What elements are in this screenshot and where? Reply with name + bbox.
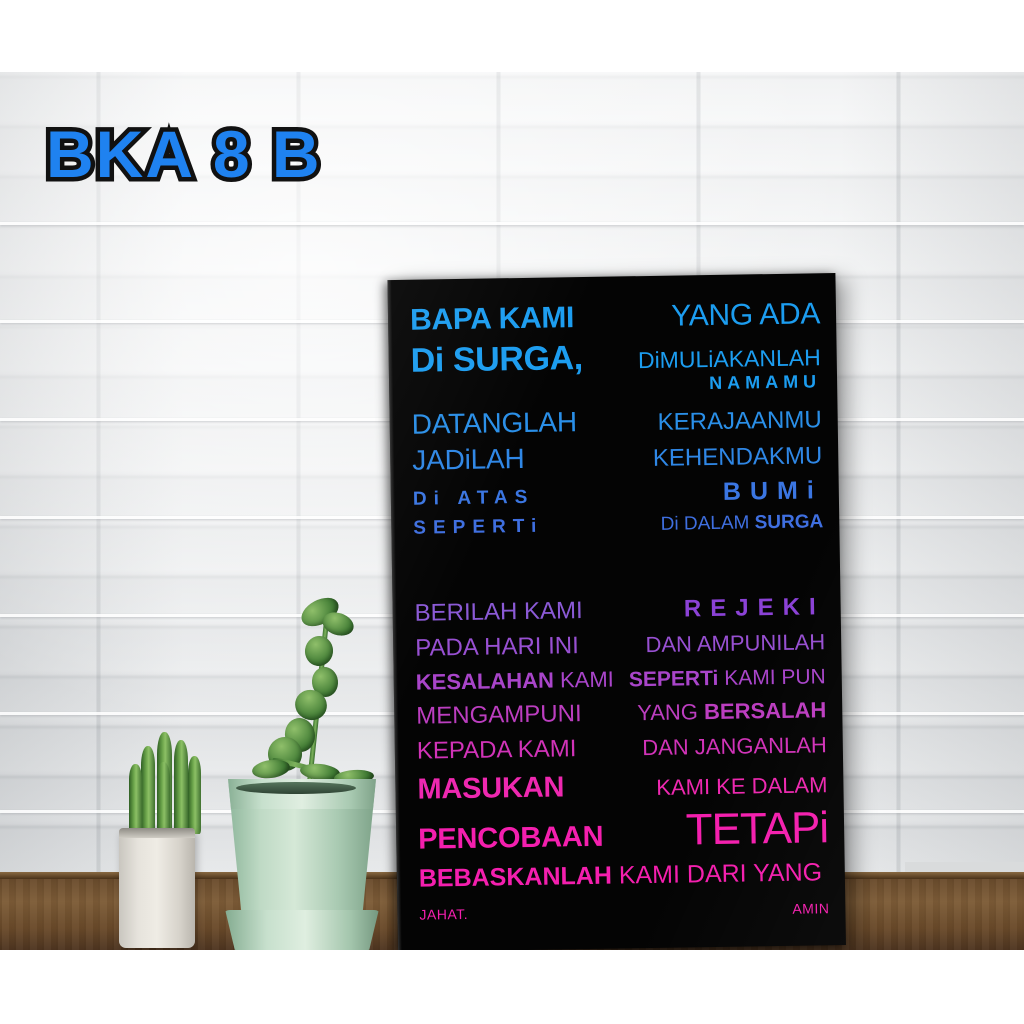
text-kami-ke-dalam: KAMI KE DALAM — [621, 774, 827, 799]
poster-line-left: Di SURGA, — [404, 341, 615, 378]
watermark-bka8b: BKA 8 B — [46, 116, 322, 192]
poster-line: MENGAMPUNI YANG BERSALAH — [410, 698, 830, 729]
text-jadilah: JADiLAH — [412, 444, 616, 475]
green-pot-soil — [236, 782, 356, 794]
text-datanglah: DATANGLAH — [411, 408, 615, 439]
text-surga: SURGA — [755, 511, 824, 533]
poster-footer-right: AMIN — [623, 901, 833, 918]
poster-line-left: BERILAH KAMI — [409, 598, 619, 625]
poster-line-right: Di DALAM SURGA — [617, 512, 827, 534]
photo-scene: BAPA KAMI YANG ADA Di SURGA, DiMULiAKANL… — [0, 0, 1024, 1024]
poster-line-right: KERAJAANMU — [616, 408, 826, 435]
green-saucer — [222, 910, 382, 950]
mortar-line — [0, 222, 1024, 225]
text-bebaskanlah: BEBASKANLAH — [419, 862, 612, 893]
poster-line-right: TETAPi — [622, 806, 833, 853]
text-dan-ampunilah: DAN AMPUNILAH — [619, 631, 825, 656]
poster-line: PENCOBAAN TETAPi — [412, 806, 833, 857]
poster-line-left: JADiLAH — [406, 444, 616, 475]
text-kepada-kami: KEPADA KAMI — [417, 736, 621, 763]
text-pada-hari-ini: PADA HARI INI — [415, 633, 619, 660]
poster-line-right: BUMi — [617, 478, 827, 506]
poster-line-left: PENCOBAAN — [412, 822, 622, 854]
text-kehendakmu: KEHENDAKMU — [616, 444, 822, 471]
poster-line-right: REJEKI — [618, 595, 828, 622]
poster-footer: JAHAT. AMIN — [413, 901, 833, 922]
poster-line-left: KESALAHAN KAMI — [410, 668, 620, 693]
watermark-text: BKA 8 B — [46, 117, 322, 191]
poster-line: JADiLAH KEHENDAKMU — [406, 440, 826, 475]
text-berilah-kami: BERILAH KAMI — [414, 598, 618, 625]
poster-line: Di ATAS BUMi — [407, 478, 827, 510]
text-dan-janganlah: DAN JANGANLAH — [621, 734, 827, 759]
cactus-stalk — [174, 740, 188, 834]
text-masukan: MASUKAN — [417, 772, 621, 804]
text-kesalahan: KESALAHAN — [416, 668, 555, 695]
text-di-dalam-surga: Di DALAM SURGA — [617, 512, 823, 534]
poster-line-right: KAMI KE DALAM — [621, 774, 831, 799]
green-pot-rim — [222, 779, 382, 809]
cactus-stalk — [157, 762, 170, 834]
poster-line-left: PADA HARI INI — [409, 633, 619, 660]
poster-line: MASUKAN KAMI KE DALAM — [411, 769, 831, 805]
poster-closing-line: BEBASKANLAH KAMI DARI YANG — [413, 860, 833, 892]
prayer-poster[interactable]: BAPA KAMI YANG ADA Di SURGA, DiMULiAKANL… — [387, 273, 846, 950]
text-pencobaan: PENCOBAAN — [418, 822, 622, 854]
poster-bottom-block: BERILAH KAMI REJEKI PADA HARI INI DAN AM… — [409, 595, 834, 922]
text-bebaskanlah-kami-dari-yang: BEBASKANLAH KAMI DARI YANG — [419, 860, 833, 891]
text-yang-ada: YANG ADA — [614, 299, 820, 332]
text-yang-bersalah: YANG BERSALAH — [620, 699, 826, 724]
poster-line-left: MASUKAN — [411, 772, 621, 804]
poster-line-right: KEHENDAKMU — [616, 444, 826, 471]
text-kami: KAMI — [554, 667, 614, 693]
poster-line: KESALAHAN KAMI SEPERTi KAMI PUN — [410, 665, 830, 694]
poster-line-left: KEPADA KAMI — [411, 736, 621, 763]
poster-line: DATANGLAH KERAJAANMU — [406, 404, 826, 439]
text-di-atas: Di ATAS — [413, 487, 617, 509]
cactus-stalk — [188, 756, 201, 834]
poster-line-left: DATANGLAH — [406, 408, 616, 439]
poster-line: BERILAH KAMI REJEKI — [409, 595, 829, 626]
poster-line-left: MENGAMPUNI — [410, 701, 620, 728]
text-bapa-kami: BAPA KAMI — [410, 303, 614, 336]
poster-line: Di SURGA, DiMULiAKANLAH NAMAMU — [404, 337, 825, 397]
poster-line-right: DiMULiAKANLAH NAMAMU — [615, 346, 826, 393]
poster-line-right: DAN AMPUNILAH — [619, 631, 829, 656]
poster-line: BAPA KAMI YANG ADA — [404, 299, 824, 336]
poster-line-left: Di ATAS — [407, 487, 617, 509]
text-yang: YANG — [637, 699, 704, 725]
poster-line: SEPERTi Di DALAM SURGA — [407, 512, 827, 538]
text-di-surga: Di SURGA, — [410, 341, 615, 378]
text-kami-pun: KAMI PUN — [718, 665, 826, 690]
text-kesalahan-kami: KESALAHAN KAMI — [416, 668, 620, 693]
poster-line: PADA HARI INI DAN AMPUNILAH — [409, 630, 829, 661]
text-jahat: JAHAT. — [419, 904, 623, 921]
cactus-stalk — [129, 764, 142, 834]
cactus-stalk — [141, 746, 155, 834]
text-amin: AMIN — [623, 901, 829, 918]
text-dimuliakanlah: DiMULiAKANLAH — [615, 346, 821, 372]
poster-line-right: YANG ADA — [614, 299, 824, 332]
text-kami-dari-yang: KAMI DARI YANG — [612, 858, 823, 889]
white-pot — [119, 828, 195, 948]
text-rejeki: REJEKI — [618, 595, 824, 622]
poster-line-right: DAN JANGANLAH — [621, 734, 831, 759]
poster-line: KEPADA KAMI DAN JANGANLAH — [411, 733, 831, 764]
text-kerajaanmu: KERAJAANMU — [616, 408, 822, 435]
poster-line-left: SEPERTi — [407, 516, 617, 538]
poster-top-block: BAPA KAMI YANG ADA Di SURGA, DiMULiAKANL… — [404, 299, 828, 538]
poster-line-right: SEPERTi KAMI PUN — [620, 666, 830, 690]
text-mengampuni: MENGAMPUNI — [416, 701, 620, 728]
green-pot — [228, 779, 376, 927]
poster-footer-left: JAHAT. — [413, 904, 623, 921]
white-pot-rim — [119, 828, 195, 838]
text-bumi: BUMi — [617, 478, 823, 506]
product-photo: BAPA KAMI YANG ADA Di SURGA, DiMULiAKANL… — [0, 72, 1024, 950]
text-namamu: NAMAMU — [615, 372, 821, 393]
text-tetapi: TETAPi — [622, 806, 829, 853]
poster-line-right: YANG BERSALAH — [620, 699, 830, 724]
text-seperti: SEPERTi — [413, 516, 617, 538]
text-bersalah: BERSALAH — [704, 697, 827, 724]
text-seperti-kami-pun: SEPERTi KAMI PUN — [620, 666, 826, 690]
poster-line-left: BAPA KAMI — [404, 303, 614, 336]
text-di-dalam: Di DALAM — [661, 512, 755, 534]
text-seperti: SEPERTi — [629, 667, 719, 691]
